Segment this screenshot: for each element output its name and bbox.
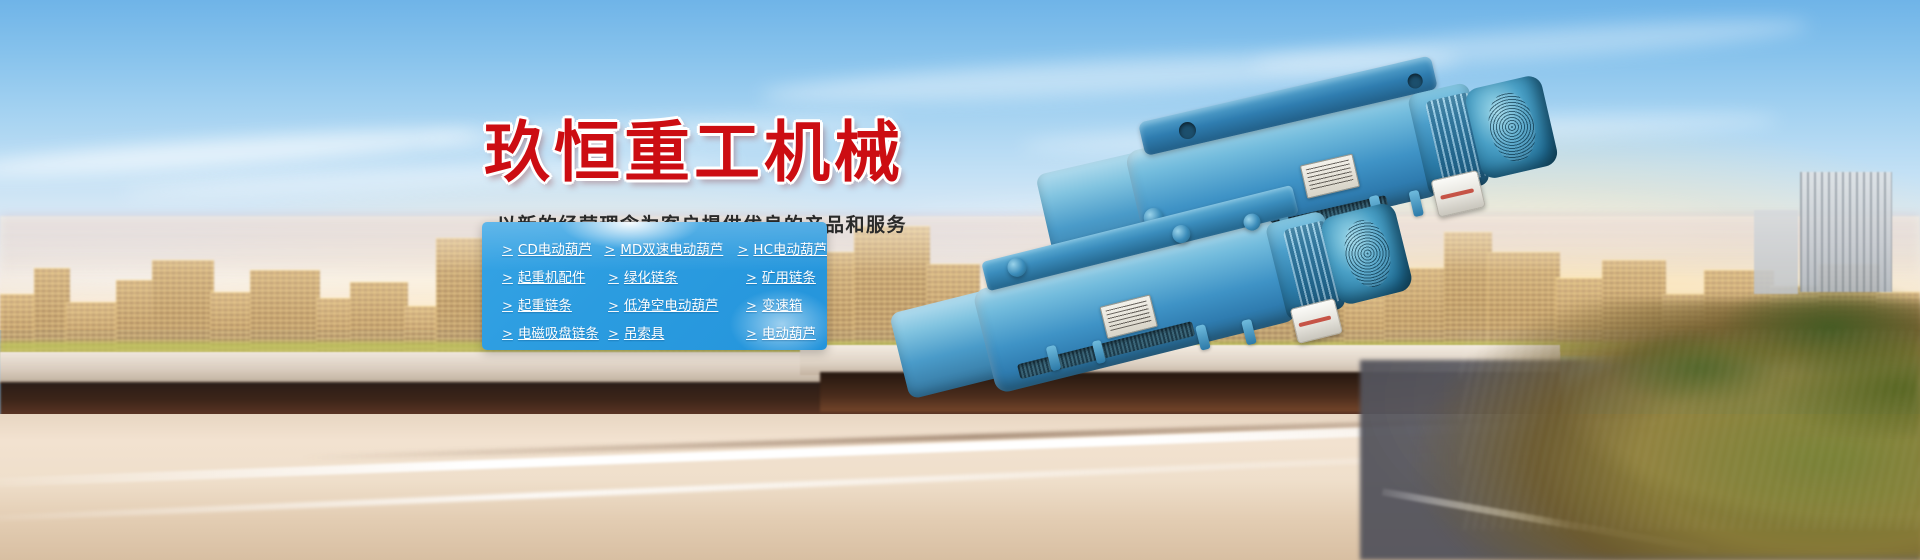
product-list-panel: > CD电动葫芦 > MD双速电动葫芦 > HC电动葫芦 > 起重机配件	[482, 222, 827, 350]
product-link-hc-hoist[interactable]: > HC电动葫芦	[738, 238, 827, 258]
product-row: > 电磁吸盘链条 > 吊索具 > 电动葫芦	[482, 318, 827, 346]
product-link-electric-hoist[interactable]: > 电动葫芦	[746, 322, 816, 342]
product-label: CD电动葫芦	[518, 238, 592, 258]
product-label: 电动葫芦	[762, 322, 816, 342]
product-label: 变速箱	[762, 294, 803, 314]
product-link-md-dual-speed-hoist[interactable]: > MD双速电动葫芦	[604, 238, 737, 258]
product-label: 起重机配件	[518, 266, 586, 286]
product-list: > CD电动葫芦 > MD双速电动葫芦 > HC电动葫芦 > 起重机配件	[482, 222, 827, 350]
chevron-right-icon: >	[608, 271, 619, 286]
product-link-lifting-sling[interactable]: > 吊索具	[608, 322, 746, 342]
hero-banner: 玖恒重工机械 以新的经营理念为客户提供优良的产品和服务 > CD电动葫芦 > M…	[0, 0, 1920, 560]
chevron-right-icon: >	[746, 299, 757, 314]
chevron-right-icon: >	[502, 243, 513, 258]
product-link-crane-parts[interactable]: > 起重机配件	[502, 266, 608, 286]
chevron-right-icon: >	[608, 299, 619, 314]
product-link-mining-chain[interactable]: > 矿用链条	[746, 266, 816, 286]
chevron-right-icon: >	[746, 271, 757, 286]
product-link-low-headroom-hoist[interactable]: > 低净空电动葫芦	[608, 294, 746, 314]
chevron-right-icon: >	[502, 299, 513, 314]
product-label: 绿化链条	[624, 266, 678, 286]
page-title: 玖恒重工机械	[484, 120, 904, 186]
product-label: 吊索具	[624, 322, 665, 342]
chevron-right-icon: >	[502, 271, 513, 286]
product-label: 矿用链条	[762, 266, 816, 286]
chevron-right-icon: >	[746, 327, 757, 342]
product-link-gearbox[interactable]: > 变速箱	[746, 294, 802, 314]
chevron-right-icon: >	[604, 243, 615, 258]
distant-tower	[1754, 210, 1798, 294]
product-row: > 起重链条 > 低净空电动葫芦 > 变速箱	[482, 290, 827, 318]
product-label: HC电动葫芦	[753, 238, 827, 258]
product-row: > 起重机配件 > 绿化链条 > 矿用链条	[482, 262, 827, 290]
distant-tower	[1800, 172, 1892, 292]
product-label: MD双速电动葫芦	[620, 238, 723, 258]
product-label: 低净空电动葫芦	[624, 294, 719, 314]
product-label: 电磁吸盘链条	[518, 322, 599, 342]
product-link-magnetic-chuck-chain[interactable]: > 电磁吸盘链条	[502, 322, 608, 342]
chevron-right-icon: >	[738, 243, 749, 258]
chevron-right-icon: >	[608, 327, 619, 342]
product-link-greening-chain[interactable]: > 绿化链条	[608, 266, 746, 286]
product-link-cd-hoist[interactable]: > CD电动葫芦	[502, 238, 604, 258]
product-row: > CD电动葫芦 > MD双速电动葫芦 > HC电动葫芦	[482, 234, 827, 262]
product-link-lifting-chain[interactable]: > 起重链条	[502, 294, 608, 314]
product-label: 起重链条	[518, 294, 572, 314]
chevron-right-icon: >	[502, 327, 513, 342]
